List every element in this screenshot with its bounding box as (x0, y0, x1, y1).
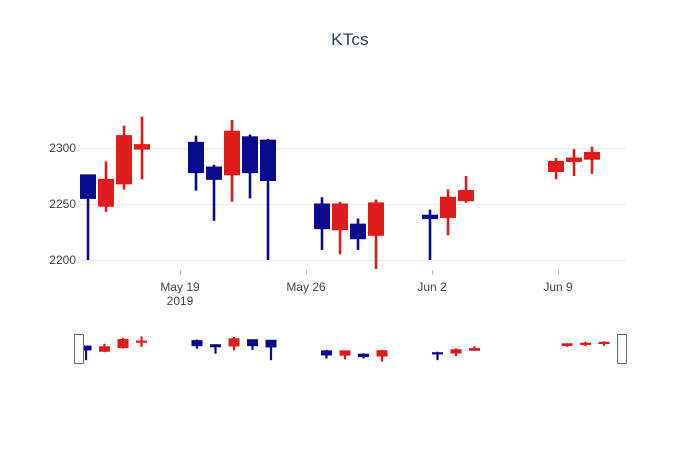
candle-jun-12[interactable] (599, 341, 609, 345)
candle-may-15[interactable] (100, 344, 110, 352)
candle-may-17[interactable] (137, 336, 147, 346)
candlestick-chart: KTcs 2300 2250 2200 May 19 2019 May 26 J… (0, 0, 700, 450)
candle-may-28[interactable] (340, 350, 350, 359)
range-handle-left[interactable] (74, 334, 84, 364)
candle-jun-10[interactable] (562, 343, 572, 347)
candle-may-20[interactable] (192, 340, 202, 349)
candle-jun-5[interactable] (470, 346, 480, 350)
candle-may-24[interactable] (266, 340, 276, 360)
candle-may-29[interactable] (359, 353, 369, 358)
range-handle-right[interactable] (617, 334, 627, 364)
candle-jun-11[interactable] (581, 342, 591, 346)
candle-may-30[interactable] (377, 350, 387, 362)
candlestick-series-rangeslider[interactable] (0, 0, 700, 450)
candle-jun-4[interactable] (451, 348, 461, 356)
candle-jun-3[interactable] (433, 352, 443, 360)
candle-may-16[interactable] (118, 338, 128, 349)
candle-may-21[interactable] (211, 344, 221, 353)
candle-may-22[interactable] (229, 337, 239, 351)
candle-may-27[interactable] (322, 350, 332, 359)
candle-may-23[interactable] (248, 339, 258, 350)
